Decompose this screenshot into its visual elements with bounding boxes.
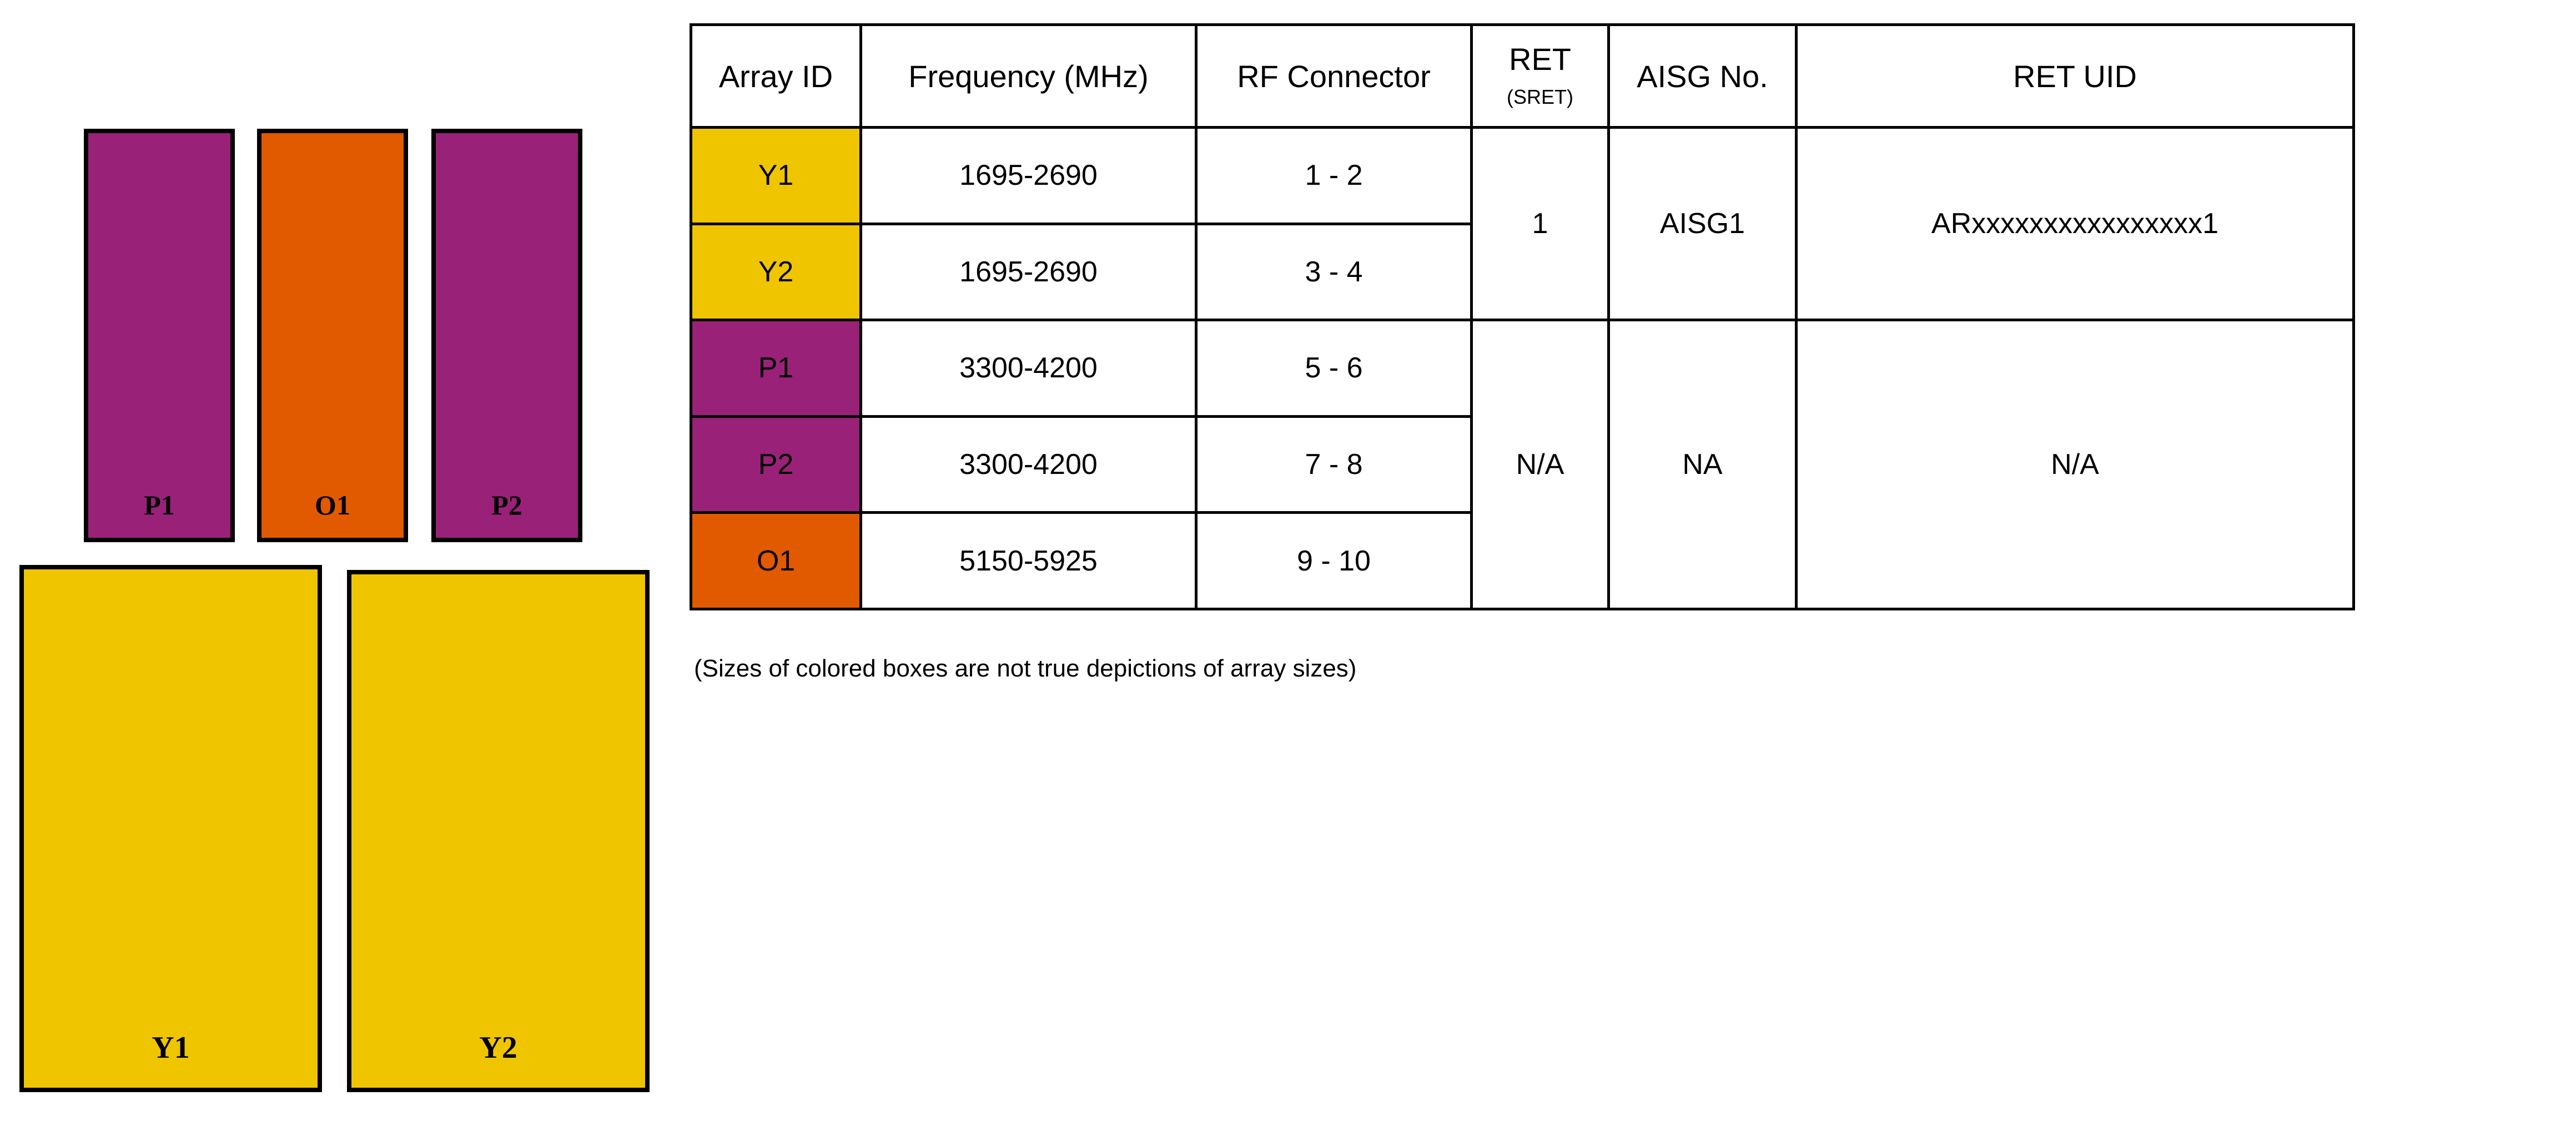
cell-frequency-p1: 3300-4200 [861,320,1196,417]
array-box-p1: P1 [84,129,235,542]
array-box-label-p2: P2 [491,491,522,538]
column-header-ret-uid: RET UID [1797,25,2354,128]
column-header-ret-main: RET [1476,43,1604,76]
array-box-label-o1: O1 [315,491,350,538]
cell-frequency-y1: 1695-2690 [861,128,1196,224]
cell-array-id-p2: P2 [691,416,861,513]
cell-aisg-no-group-po: NA [1609,320,1797,609]
column-header-aisg-no: AISG No. [1609,25,1797,128]
cell-array-id-o1: O1 [691,513,861,609]
cell-ret-uid-group-y: ARxxxxxxxxxxxxxxxx1 [1797,128,2354,320]
cell-array-id-y1: Y1 [691,128,861,224]
table-header-row: Array ID Frequency (MHz) RF Connector RE… [691,25,2354,128]
array-layout-diagram: P1 O1 P2 Y1 Y2 [0,0,666,1121]
cell-ret-uid-group-po: N/A [1797,320,2354,609]
cell-aisg-no-group-y: AISG1 [1609,128,1797,320]
column-header-ret-sub: (SRET) [1476,85,1604,109]
column-header-rf-connector: RF Connector [1196,25,1472,128]
cell-ret-group-y: 1 [1472,128,1609,320]
cell-rf-connector-y1: 1 - 2 [1196,128,1472,224]
array-spec-table-container: Array ID Frequency (MHz) RF Connector RE… [690,23,2352,610]
cell-rf-connector-y2: 3 - 4 [1196,224,1472,320]
cell-rf-connector-p2: 7 - 8 [1196,416,1472,513]
table-row: P1 3300-4200 5 - 6 N/A NA N/A [691,320,2354,417]
cell-array-id-p1: P1 [691,320,861,417]
cell-rf-connector-p1: 5 - 6 [1196,320,1472,417]
array-box-o1: O1 [257,129,408,542]
array-box-y2: Y2 [347,570,650,1092]
column-header-ret: RET (SRET) [1472,25,1609,128]
column-header-frequency: Frequency (MHz) [861,25,1196,128]
array-box-label-y2: Y2 [479,1032,517,1088]
array-box-label-p1: P1 [144,491,175,538]
cell-ret-group-po: N/A [1472,320,1609,609]
array-box-p2: P2 [431,129,582,542]
array-box-y1: Y1 [19,565,322,1092]
cell-frequency-o1: 5150-5925 [861,513,1196,609]
column-header-array-id: Array ID [691,25,861,128]
array-spec-table: Array ID Frequency (MHz) RF Connector RE… [690,23,2355,610]
array-box-label-y1: Y1 [152,1032,189,1088]
diagram-caption: (Sizes of colored boxes are not true dep… [694,655,1356,683]
cell-frequency-y2: 1695-2690 [861,224,1196,320]
table-row: Y1 1695-2690 1 - 2 1 AISG1 ARxxxxxxxxxxx… [691,128,2354,224]
cell-array-id-y2: Y2 [691,224,861,320]
cell-frequency-p2: 3300-4200 [861,416,1196,513]
cell-rf-connector-o1: 9 - 10 [1196,513,1472,609]
